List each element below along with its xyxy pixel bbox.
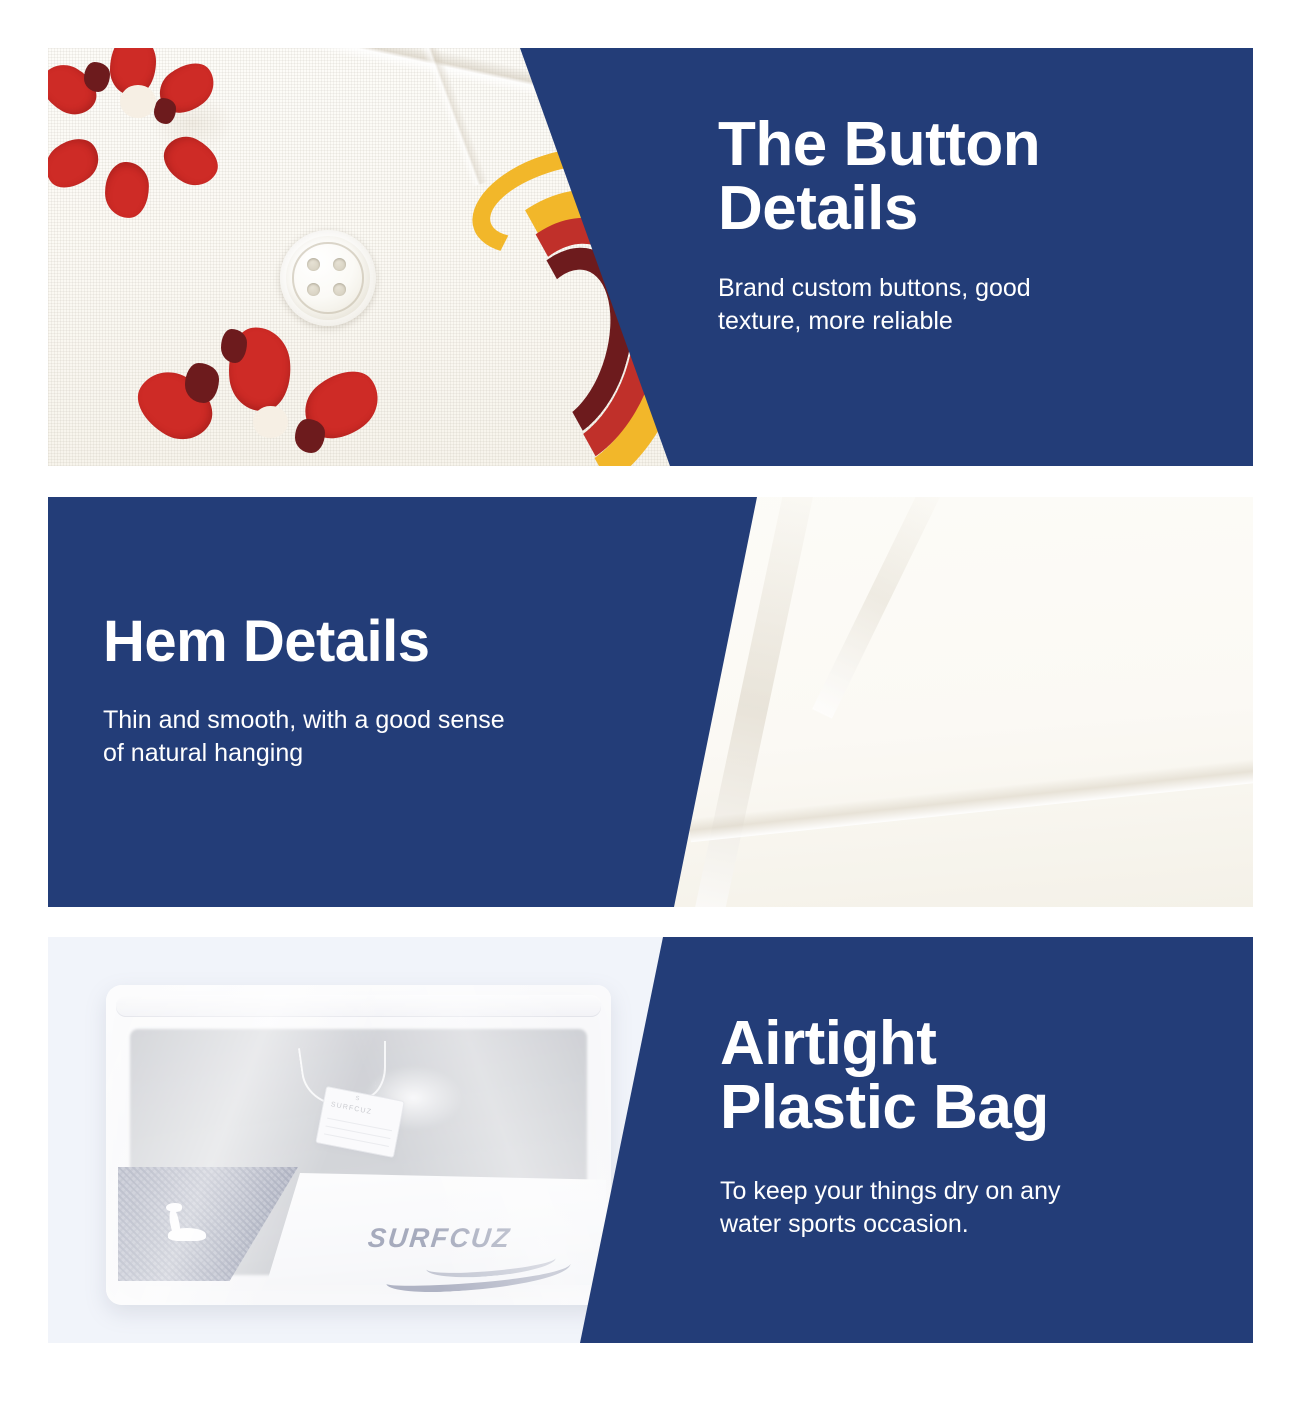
panel-button-details: The ButtonDetails Brand custom buttons, … (48, 48, 1253, 466)
plastic-bag: SURFCUZ S SURFCUZ (106, 985, 611, 1305)
panel-hem-details: Hem Details Thin and smooth, with a good… (48, 497, 1253, 907)
button-hole (333, 283, 346, 296)
panel-subtitle: To keep your things dry on anywater spor… (720, 1175, 1240, 1241)
bag-brand-logo: SURFCUZ (366, 1223, 512, 1254)
panel-subtitle: Brand custom buttons, goodtexture, more … (718, 272, 1218, 338)
panel-text-block: The ButtonDetails Brand custom buttons, … (718, 113, 1218, 338)
hangtag-brand: SURFCUZ (330, 1101, 372, 1116)
bird-logo-icon (164, 1203, 210, 1243)
button-hole (307, 258, 320, 271)
panel-text-block: AirtightPlastic Bag To keep your things … (720, 1012, 1240, 1241)
panel-title: Hem Details (103, 612, 683, 672)
flower-motif (58, 48, 218, 178)
button-hole (307, 283, 320, 296)
shirt-button (280, 230, 376, 326)
panel-text-block: Hem Details Thin and smooth, with a good… (103, 612, 683, 770)
button-hole (333, 258, 346, 271)
hangtag-line (327, 1118, 392, 1132)
panel-airtight-plastic-bag: SURFCUZ S SURFCUZ AirtightPlastic Bag To… (48, 937, 1253, 1343)
infographic-page: The ButtonDetails Brand custom buttons, … (0, 0, 1301, 1401)
bird-head (166, 1203, 182, 1212)
hangtag-size: S (355, 1096, 360, 1103)
panel-title: The ButtonDetails (718, 113, 1218, 242)
bag-zip-seal (116, 995, 601, 1017)
button-rim (292, 242, 363, 313)
panel-subtitle: Thin and smooth, with a good senseof nat… (103, 704, 683, 770)
flower-motif-large (163, 323, 378, 466)
panel-title: AirtightPlastic Bag (720, 1012, 1240, 1141)
